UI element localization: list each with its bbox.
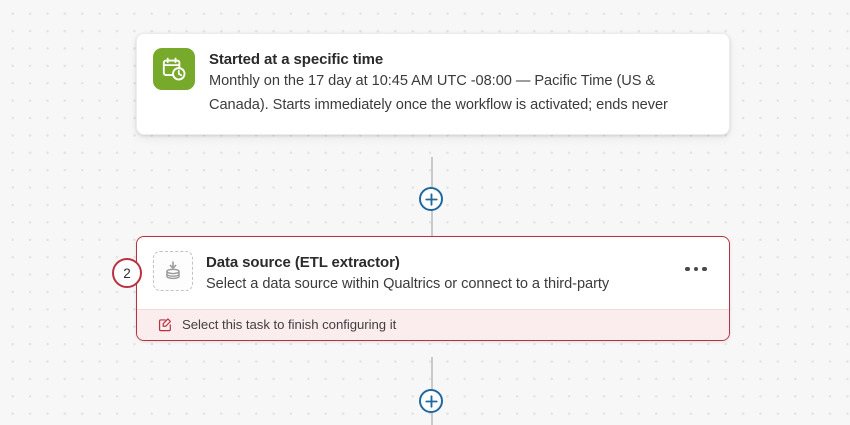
task-error-message: Select this task to finish configuring i… (182, 317, 396, 332)
workflow-node-task-2[interactable]: Data source (ETL extractor) Select a dat… (136, 236, 730, 341)
task-card-text: Data source (ETL extractor) Select a dat… (206, 251, 679, 297)
more-options-button[interactable] (679, 257, 713, 281)
workflow-canvas: Started at a specific time Monthly on th… (0, 0, 850, 425)
trigger-card-description: Monthly on the 17 day at 10:45 AM UTC -0… (209, 70, 695, 117)
add-step-button-bottom[interactable] (419, 389, 443, 413)
step-number-badge: 2 (112, 258, 142, 288)
trigger-card-text: Started at a specific time Monthly on th… (209, 48, 713, 118)
task-error-bar: Select this task to finish configuring i… (137, 309, 729, 340)
database-extract-icon (153, 251, 193, 291)
add-step-button-top[interactable] (419, 187, 443, 211)
plus-circle-icon (425, 395, 438, 408)
task-card-title: Data source (ETL extractor) (206, 252, 669, 273)
kebab-dot (702, 267, 707, 272)
edit-square-icon (158, 317, 173, 332)
workflow-node-trigger[interactable]: Started at a specific time Monthly on th… (136, 33, 730, 135)
plus-circle-icon (425, 193, 438, 206)
task-card-description: Select a data source within Qualtrics or… (206, 273, 669, 297)
calendar-clock-icon (153, 48, 195, 90)
kebab-dot (694, 267, 699, 272)
trigger-card-title: Started at a specific time (209, 49, 695, 70)
kebab-dot (685, 267, 690, 272)
